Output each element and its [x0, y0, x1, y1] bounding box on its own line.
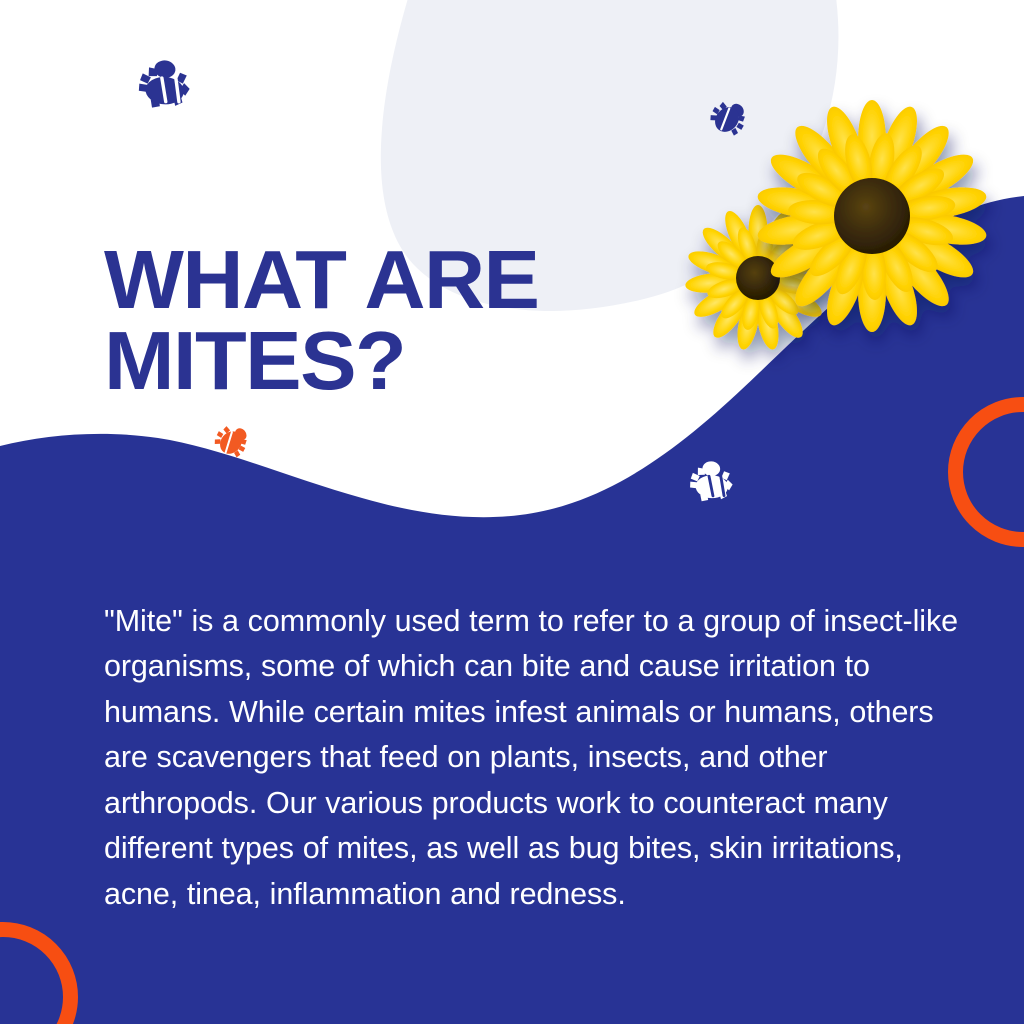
body-paragraph: "Mite" is a commonly used term to refer …: [104, 599, 962, 918]
page-title: WHAT ARE MITES?: [104, 239, 736, 402]
poster-canvas: WHAT ARE MITES? "Mite" is a commonly use…: [0, 0, 1024, 1024]
sunflower-cluster: [694, 126, 980, 338]
